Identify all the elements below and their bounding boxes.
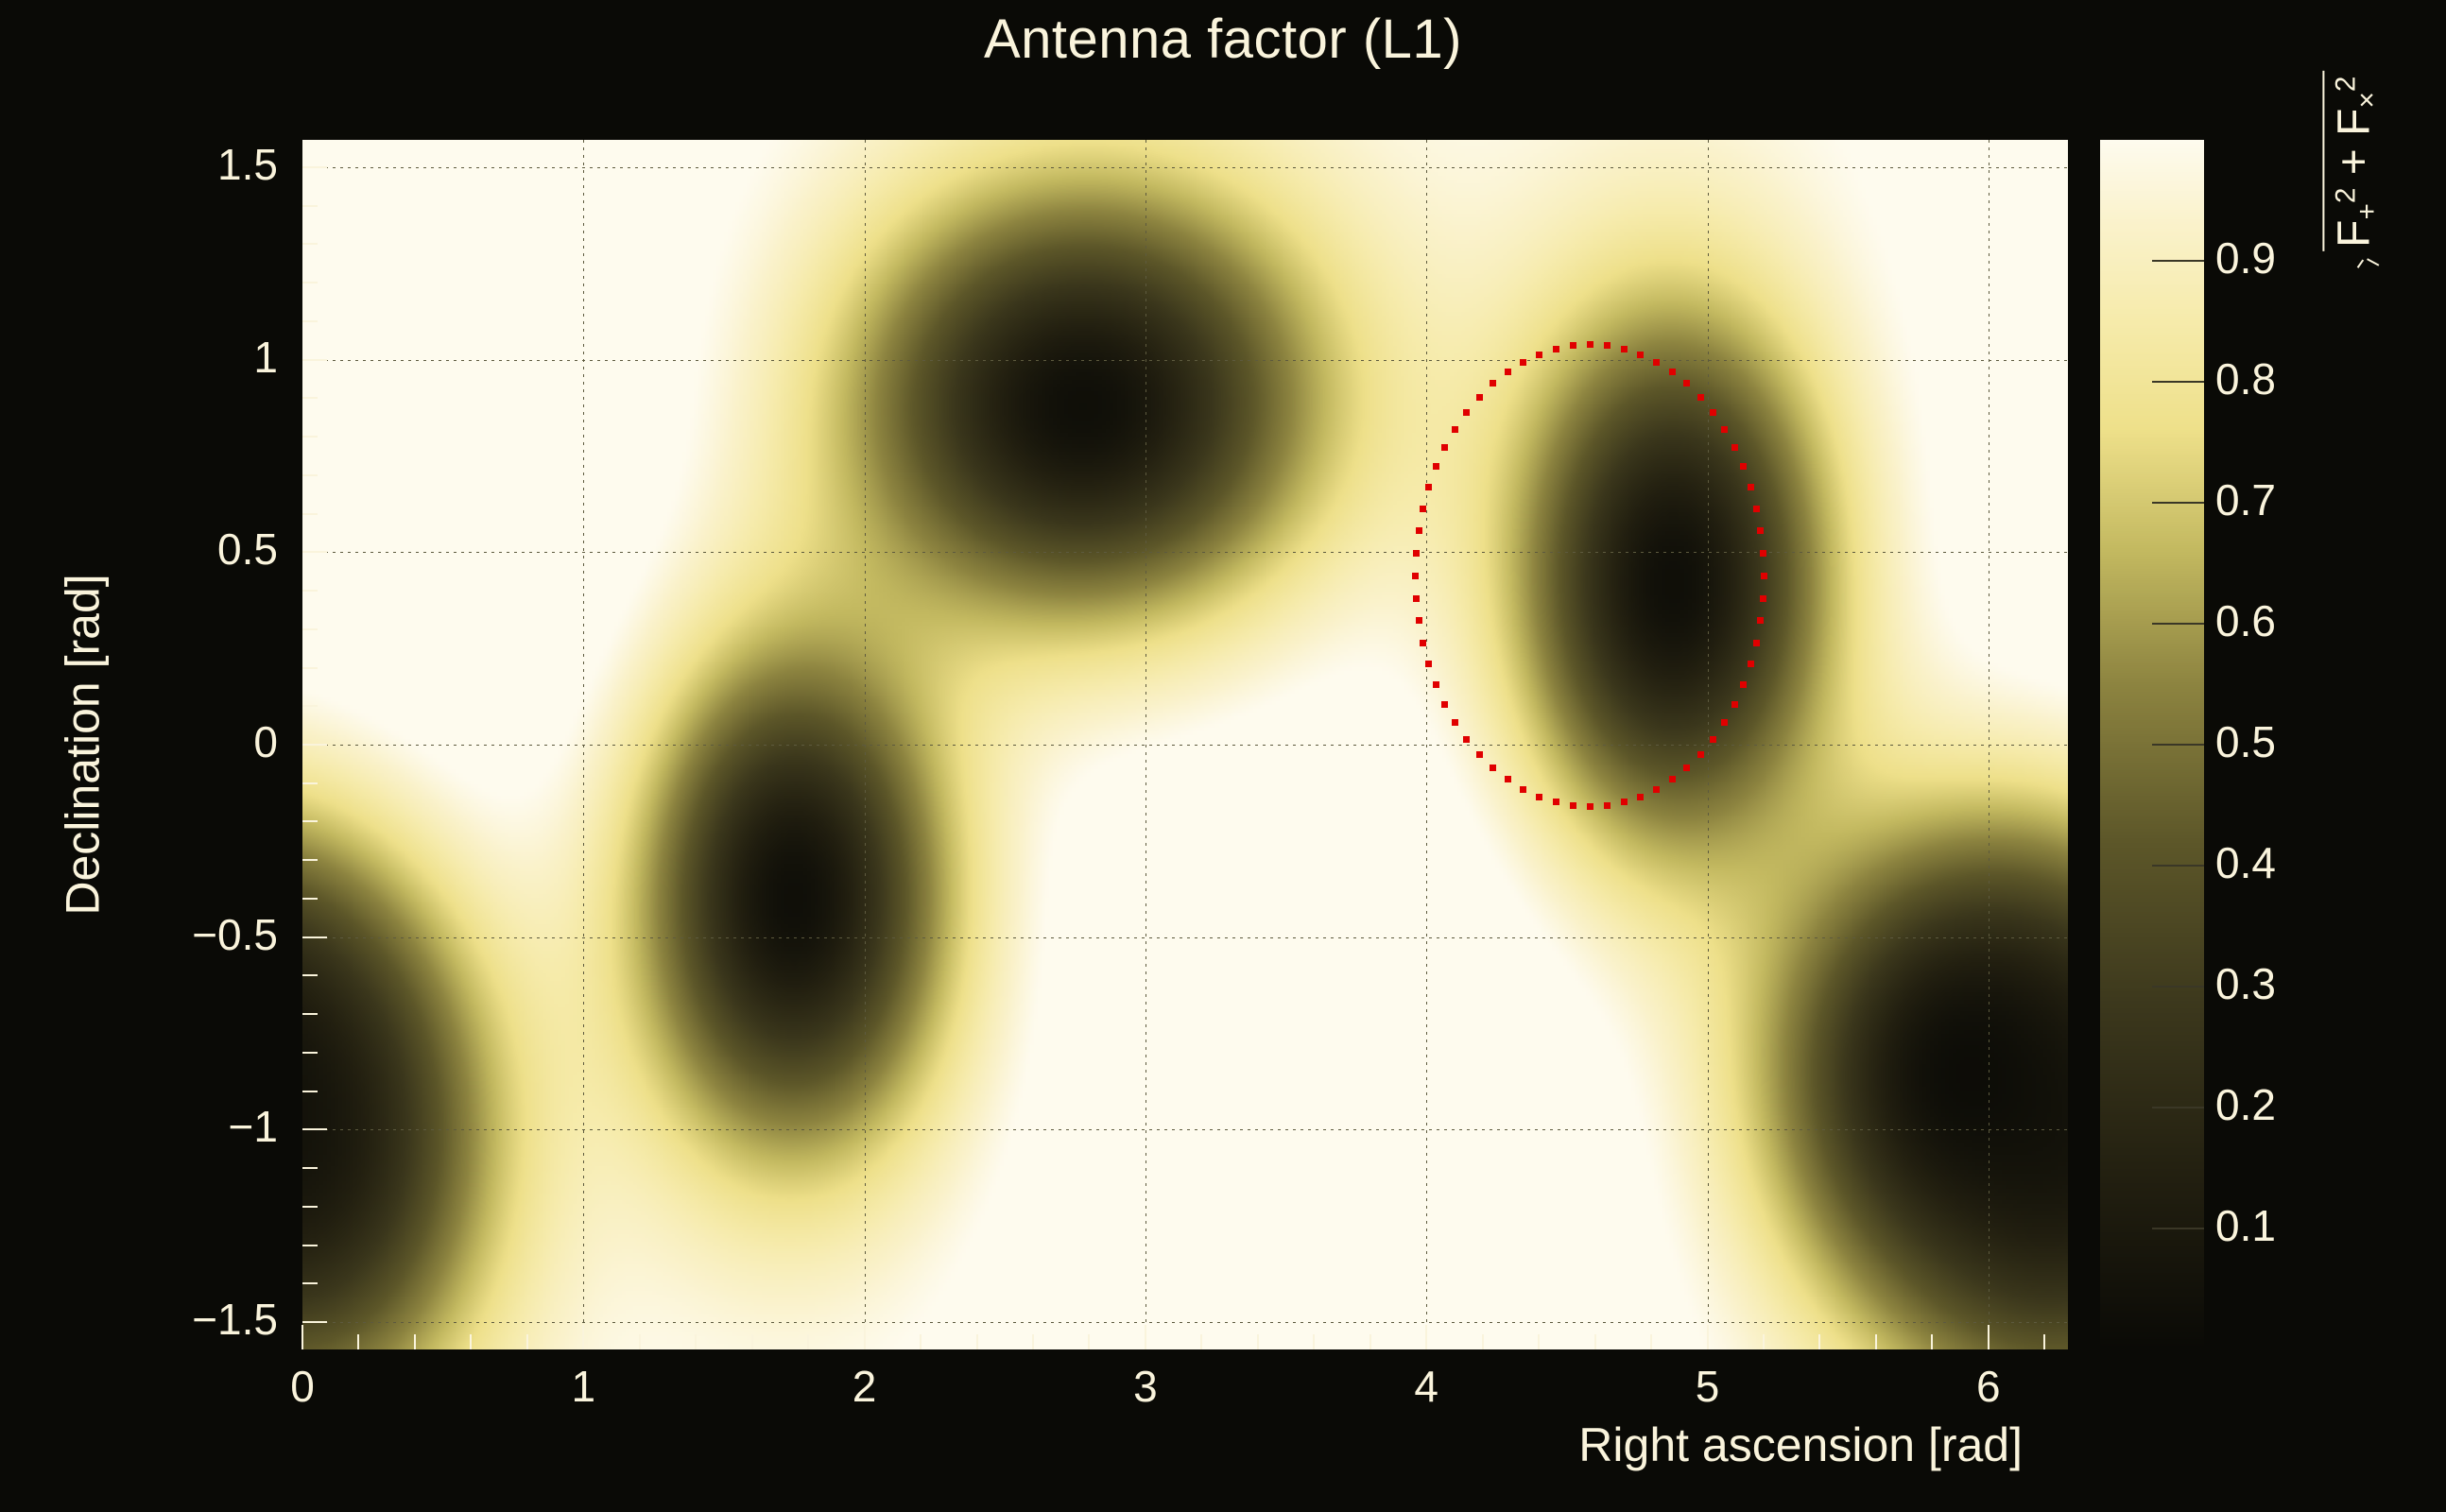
gridline-horizontal <box>302 1129 2068 1130</box>
x-axis-minor-tick <box>1763 1334 1765 1349</box>
colorbar-tick <box>2152 744 2204 746</box>
gridline-horizontal <box>302 552 2068 553</box>
x-axis-minor-tick <box>1482 1334 1484 1349</box>
x-axis-minor-tick <box>1200 1334 1202 1349</box>
sqrt-expression: F+2 + F×2 <box>2323 71 2384 270</box>
y-axis-tick-label: 1.5 <box>217 139 278 190</box>
colorbar-tick <box>2152 1107 2204 1108</box>
gridline-horizontal <box>302 745 2068 746</box>
sqrt-radical-icon <box>2323 251 2384 270</box>
x-axis-minor-tick <box>1369 1334 1371 1349</box>
y-axis-minor-tick <box>302 1167 318 1169</box>
x-axis-tick-label: 5 <box>1651 1361 1765 1412</box>
colorbar-tick-label: 0.7 <box>2215 474 2276 525</box>
gridline-horizontal <box>302 1322 2068 1323</box>
colorbar-tick <box>2152 381 2204 383</box>
y-axis-title-text: Declination [rad] <box>56 574 111 915</box>
x-axis-minor-tick <box>1257 1334 1259 1349</box>
y-axis-minor-tick <box>302 1206 318 1208</box>
y-axis-tick <box>302 1321 327 1323</box>
plus-operator: + <box>2330 148 2380 175</box>
gridline-horizontal <box>302 167 2068 168</box>
y-axis-tick-label: 0 <box>253 716 278 767</box>
f-cross-exponent: 2 <box>2331 77 2362 93</box>
colorbar-tick-label: 0.1 <box>2215 1200 2276 1251</box>
colorbar-tick-label: 0.5 <box>2215 716 2276 767</box>
y-axis-minor-tick <box>302 782 318 784</box>
x-axis-tick <box>1425 1325 1427 1349</box>
x-axis-minor-tick <box>1088 1334 1090 1349</box>
y-axis-tick-label: −1.5 <box>192 1294 278 1345</box>
y-axis-minor-tick <box>302 820 318 822</box>
y-axis-minor-tick <box>302 320 318 322</box>
y-axis-tick <box>302 166 327 168</box>
colorbar-title: F+2 + F×2 <box>2287 140 2420 537</box>
x-axis-tick <box>1707 1325 1709 1349</box>
y-axis-tick <box>302 936 327 938</box>
y-axis-minor-tick <box>302 474 318 476</box>
colorbar-tick-label: 0.4 <box>2215 837 2276 888</box>
colorbar-title-text: F+2 + F×2 <box>2323 71 2384 270</box>
x-axis-tick-label: 6 <box>1932 1361 2045 1412</box>
y-axis-minor-tick <box>302 513 318 515</box>
f-cross-symbol: F <box>2330 109 2380 136</box>
x-axis-tick <box>1145 1325 1146 1349</box>
x-axis-minor-tick <box>357 1334 359 1349</box>
x-axis-minor-tick <box>1032 1334 1034 1349</box>
colorbar-tick-label: 0.8 <box>2215 353 2276 404</box>
y-axis-minor-tick <box>302 1013 318 1015</box>
y-axis-tick-label: −1 <box>229 1101 278 1152</box>
y-axis-minor-tick <box>302 243 318 245</box>
x-axis-minor-tick <box>1594 1334 1596 1349</box>
x-axis-minor-tick <box>920 1334 922 1349</box>
y-axis-minor-tick <box>302 974 318 976</box>
x-axis-title: Right ascension [rad] <box>0 1417 2068 1472</box>
y-axis-minor-tick <box>302 898 318 900</box>
x-axis-minor-tick <box>414 1334 416 1349</box>
gridline-horizontal <box>302 937 2068 938</box>
colorbar-tick-label: 0.2 <box>2215 1079 2276 1130</box>
y-axis-minor-tick <box>302 1282 318 1284</box>
y-axis-tick-label: −0.5 <box>192 909 278 960</box>
y-axis-tick <box>302 359 327 361</box>
y-axis-minor-tick <box>302 282 318 283</box>
colorbar-tick-label: 0.3 <box>2215 958 2276 1009</box>
x-axis-tick-label: 3 <box>1089 1361 1202 1412</box>
radicand: F+2 + F×2 <box>2323 71 2384 251</box>
x-axis-minor-tick <box>639 1334 641 1349</box>
y-axis-minor-tick <box>302 667 318 669</box>
y-axis-minor-tick <box>302 1245 318 1246</box>
colorbar-tick <box>2152 865 2204 867</box>
gridline-horizontal <box>302 360 2068 361</box>
y-axis-tick <box>302 551 327 553</box>
x-axis-minor-tick <box>2043 1334 2045 1349</box>
y-axis-tick-label: 1 <box>253 332 278 383</box>
colorbar-tick <box>2152 623 2204 625</box>
y-axis-minor-tick <box>302 436 318 438</box>
x-axis-minor-tick <box>1931 1334 1933 1349</box>
x-axis-minor-tick <box>807 1334 809 1349</box>
y-axis-minor-tick <box>302 859 318 861</box>
colorbar-tick-label: 0.6 <box>2215 595 2276 646</box>
y-axis-minor-tick <box>302 205 318 207</box>
f-plus-symbol: F <box>2330 220 2380 248</box>
x-axis-minor-tick <box>695 1334 697 1349</box>
y-axis-tick-label: 0.5 <box>217 524 278 575</box>
x-axis-minor-tick <box>976 1334 978 1349</box>
f-plus-subscript: + <box>2351 203 2383 219</box>
x-axis-tick-label: 1 <box>526 1361 640 1412</box>
x-axis-minor-tick <box>1313 1334 1315 1349</box>
y-axis-minor-tick <box>302 590 318 592</box>
x-axis-tick-label: 4 <box>1369 1361 1483 1412</box>
colorbar-tick <box>2152 1228 2204 1229</box>
x-axis-tick-label: 0 <box>246 1361 359 1412</box>
colorbar-tick-label: 0.9 <box>2215 232 2276 283</box>
y-axis-tick <box>302 1128 327 1130</box>
x-axis-tick <box>1988 1325 1990 1349</box>
x-axis-minor-tick <box>1538 1334 1540 1349</box>
x-axis-minor-tick <box>470 1334 472 1349</box>
x-axis-minor-tick <box>1650 1334 1652 1349</box>
x-axis-tick <box>864 1325 866 1349</box>
heatmap-plot-area <box>302 140 2068 1349</box>
x-axis-tick <box>301 1325 303 1349</box>
y-axis-minor-tick <box>302 1091 318 1092</box>
colorbar-tick <box>2152 986 2204 988</box>
y-axis-minor-tick <box>302 628 318 630</box>
f-cross-subscript: × <box>2351 92 2383 108</box>
colorbar-tick <box>2152 260 2204 262</box>
page-title: Antenna factor (L1) <box>0 8 2446 71</box>
y-axis-tick <box>302 744 327 746</box>
f-plus-exponent: 2 <box>2331 188 2362 204</box>
x-axis-tick-label: 2 <box>808 1361 922 1412</box>
y-axis-minor-tick <box>302 397 318 399</box>
colorbar-tick <box>2152 502 2204 504</box>
x-axis-minor-tick <box>1818 1334 1820 1349</box>
x-axis-minor-tick <box>751 1334 753 1349</box>
x-axis-minor-tick <box>526 1334 528 1349</box>
x-axis-tick <box>582 1325 584 1349</box>
y-axis-minor-tick <box>302 1052 318 1054</box>
y-axis-title: Declination [rad] <box>55 140 112 1349</box>
y-axis-minor-tick <box>302 705 318 707</box>
x-axis-minor-tick <box>1875 1334 1877 1349</box>
plot-canvas: Antenna factor (L1) Declination [rad] 1.… <box>0 0 2446 1512</box>
